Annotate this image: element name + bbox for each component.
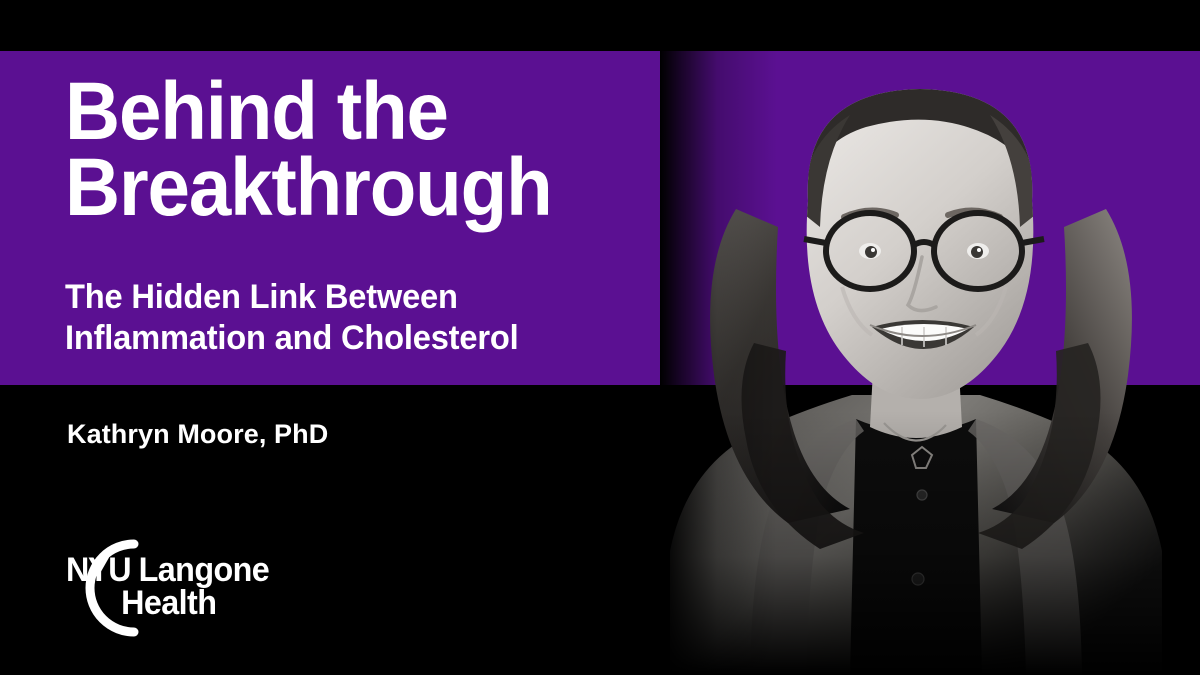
nyu-langone-health-logo: NYU Langone Health (48, 528, 308, 646)
series-title: Behind the Breakthrough (65, 74, 697, 227)
presenter-name: Kathryn Moore, PhD (67, 419, 328, 450)
episode-subtitle-line2: Inflammation and Cholesterol (65, 319, 518, 357)
title-card: Behind the Breakthrough The Hidden Link … (0, 0, 1200, 675)
series-title-line2: Breakthrough (65, 142, 552, 233)
logo-health: Health (66, 587, 269, 620)
presenter-portrait (660, 51, 1200, 675)
episode-subtitle-line1: The Hidden Link Between (65, 278, 458, 316)
episode-subtitle: The Hidden Link Between Inflammation and… (65, 277, 679, 360)
logo-nyu: NYU (66, 551, 130, 589)
logo-wordmark: NYU Langone Health (66, 554, 269, 621)
logo-langone: Langone (130, 551, 269, 589)
